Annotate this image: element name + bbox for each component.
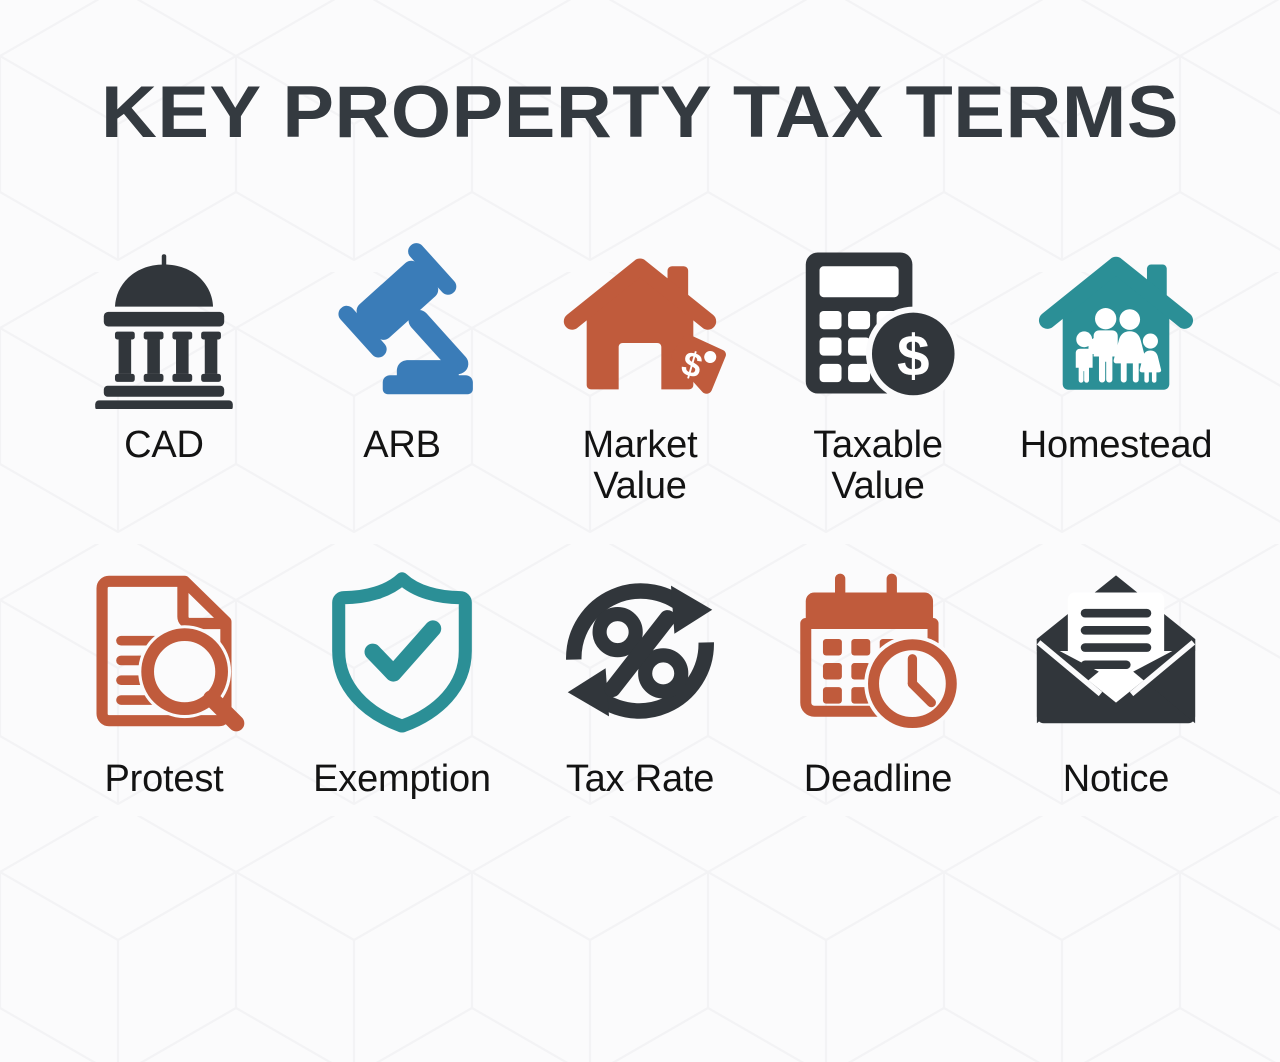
term-item-exemption[interactable]: Exemption — [283, 565, 521, 800]
term-item-arb[interactable]: ARB — [283, 237, 521, 466]
percent-cycle-icon — [554, 565, 726, 737]
term-label: Homestead — [1020, 425, 1213, 466]
term-item-cad[interactable]: CAD — [45, 237, 283, 466]
open-envelope-letter-icon — [1030, 565, 1202, 737]
government-building-icon — [78, 237, 250, 409]
gavel-icon — [316, 237, 488, 409]
shield-check-icon — [316, 565, 488, 737]
terms-row-2: Protest Exemption — [0, 565, 1280, 800]
term-label: Market Value — [535, 425, 745, 507]
term-label: CAD — [124, 425, 204, 466]
term-label: Tax Rate — [566, 759, 714, 800]
term-label: Deadline — [804, 759, 952, 800]
term-label: Taxable Value — [773, 425, 983, 507]
term-item-notice[interactable]: Notice — [997, 565, 1235, 800]
house-price-tag-icon: $ — [554, 237, 726, 409]
term-label: ARB — [363, 425, 441, 466]
title-section: KEY PROPERTY TAX TERMS — [0, 76, 1280, 149]
term-item-market-value[interactable]: $ Market Value — [521, 237, 759, 507]
infographic-poster: KEY PROPERTY TAX TERMS — [0, 0, 1280, 1062]
page-title: KEY PROPERTY TAX TERMS — [0, 76, 1280, 149]
calendar-clock-icon — [792, 565, 964, 737]
term-item-homestead[interactable]: Homestead — [997, 237, 1235, 466]
document-magnifier-icon — [78, 565, 250, 737]
term-item-taxable-value[interactable]: $ Taxable Value — [759, 237, 997, 507]
term-label: Protest — [105, 759, 224, 800]
terms-row-1: CAD — [0, 237, 1280, 507]
house-family-icon — [1030, 237, 1202, 409]
term-item-tax-rate[interactable]: Tax Rate — [521, 565, 759, 800]
terms-grid: CAD — [0, 237, 1280, 800]
term-label: Exemption — [313, 759, 491, 800]
svg-text:$: $ — [897, 323, 930, 388]
calculator-dollar-icon: $ — [792, 237, 964, 409]
term-label: Notice — [1063, 759, 1170, 800]
term-item-deadline[interactable]: Deadline — [759, 565, 997, 800]
term-item-protest[interactable]: Protest — [45, 565, 283, 800]
